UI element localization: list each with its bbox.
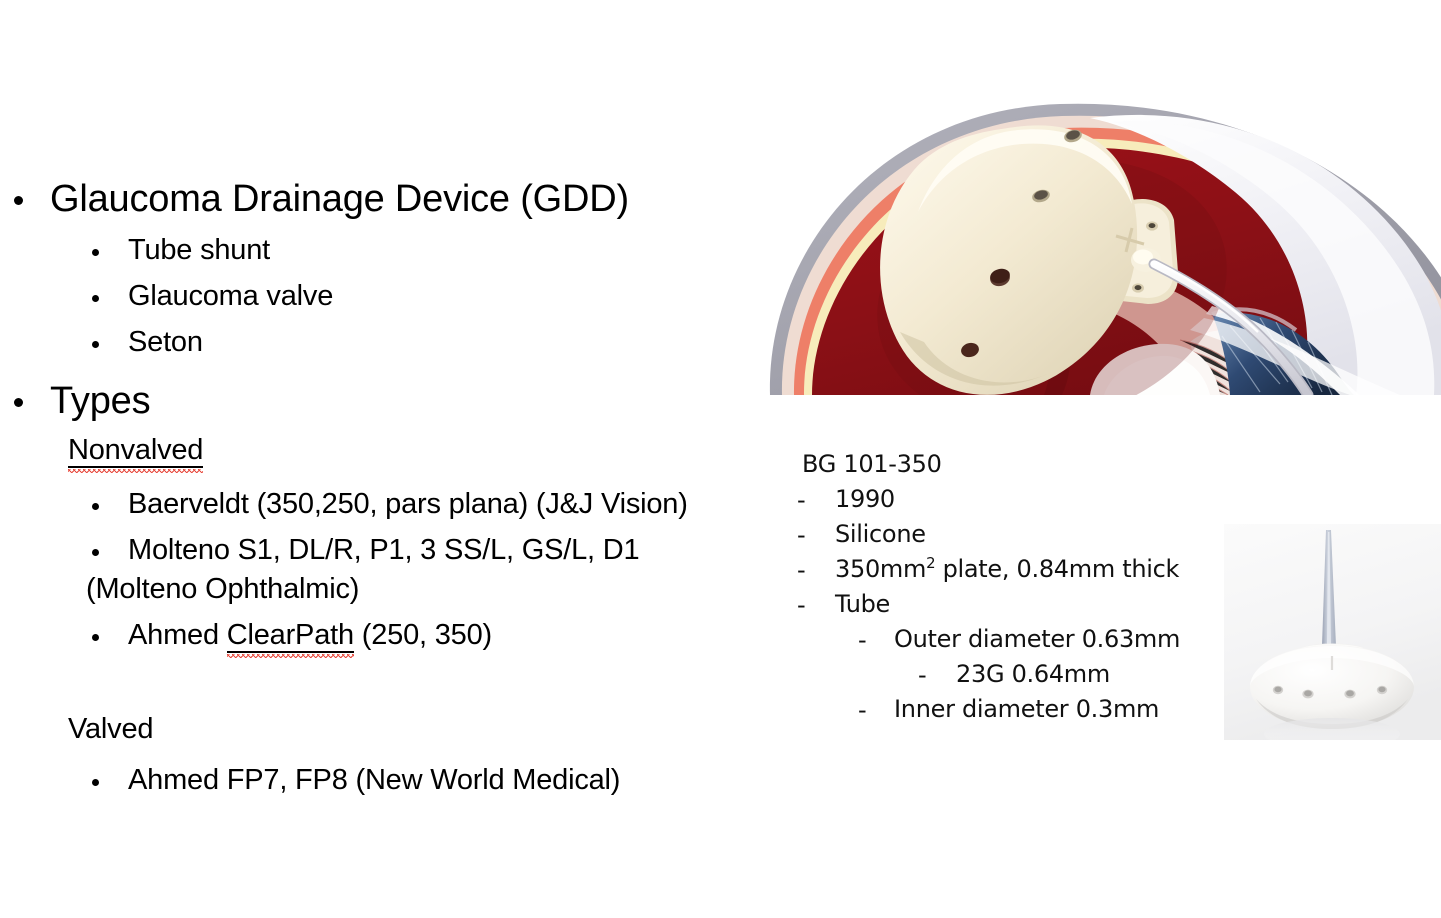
- bullet-item-ahmed-fp: Ahmed FP7, FP8 (New World Medical): [0, 766, 740, 795]
- nonvalved-heading: Nonvalved: [68, 436, 740, 468]
- slide-canvas: Glaucoma Drainage Device (GDD) Tube shun…: [0, 0, 1441, 918]
- molteno-continuation-line: (Molteno Ophthalmic): [86, 575, 740, 604]
- spec-row-year: - 1990: [796, 487, 1226, 522]
- baerveldt-implant-photo: [1224, 524, 1441, 740]
- bullet-label: Tube shunt: [128, 236, 740, 265]
- ahmed-suffix: (250, 350): [354, 619, 492, 651]
- spec-row-gauge: - 23G 0.64mm: [796, 662, 1226, 697]
- bullet-label: Types: [50, 382, 740, 420]
- spec-value: 1990: [835, 487, 895, 511]
- spec-row-material: - Silicone: [796, 522, 1226, 557]
- bullet-dot-icon: [92, 249, 99, 256]
- dash-marker-icon: -: [858, 698, 866, 722]
- bullet-item-baerveldt: Baerveldt (350,250, pars plana) (J&J Vis…: [0, 490, 740, 519]
- spec-row-tube: - Tube: [796, 592, 1226, 627]
- ahmed-prefix: Ahmed: [128, 619, 227, 651]
- bullet-dot-icon: [14, 398, 23, 407]
- dash-marker-icon: -: [797, 593, 805, 617]
- spec-value: Silicone: [835, 522, 926, 546]
- bullet-label: Glaucoma Drainage Device (GDD): [50, 180, 740, 218]
- valved-heading-text: Valved: [68, 713, 153, 745]
- dash-marker-icon: -: [797, 523, 805, 547]
- bullet-item-ahmed-clearpath: Ahmed ClearPath (250, 350): [0, 621, 740, 653]
- bullet-item-gdd: Glaucoma Drainage Device (GDD): [0, 180, 740, 218]
- spec-title-row: BG 101-350: [796, 452, 1226, 487]
- plate-area-value: 350mm: [835, 555, 926, 583]
- eye-cross-section-illustration: [760, 92, 1441, 395]
- eye-illustration-svg: [760, 92, 1441, 395]
- plate-thickness-value: plate, 0.84mm thick: [935, 555, 1179, 583]
- plate-area-exponent: 2: [926, 554, 935, 572]
- bullet-dot-icon: [92, 634, 99, 641]
- bullet-dot-icon: [92, 779, 99, 786]
- bullet-label: Glaucoma valve: [128, 282, 740, 311]
- valved-heading: Valved: [68, 715, 740, 744]
- bullet-item-glaucoma-valve: Glaucoma valve: [0, 282, 740, 311]
- spec-value: 23G 0.64mm: [956, 662, 1110, 686]
- clearpath-term: ClearPath: [227, 621, 354, 653]
- molteno-continuation-text: (Molteno Ophthalmic): [86, 573, 359, 605]
- bullet-dot-icon: [92, 503, 99, 510]
- dash-marker-icon: -: [797, 558, 805, 582]
- bullet-item-types: Types: [0, 382, 740, 420]
- bullet-item-seton: Seton: [0, 328, 740, 357]
- bullet-dot-icon: [14, 196, 23, 205]
- spec-value: 350mm2 plate, 0.84mm thick: [835, 557, 1179, 581]
- spec-title: BG 101-350: [796, 450, 942, 478]
- bullet-label: Ahmed ClearPath (250, 350): [128, 621, 740, 653]
- bullet-dot-icon: [92, 341, 99, 348]
- left-content-column: Glaucoma Drainage Device (GDD) Tube shun…: [0, 180, 740, 795]
- dash-marker-icon: -: [918, 663, 926, 687]
- bullet-item-tube-shunt: Tube shunt: [0, 236, 740, 265]
- bullet-dot-icon: [92, 295, 99, 302]
- bullet-item-molteno: Molteno S1, DL/R, P1, 3 SS/L, GS/L, D1: [0, 536, 740, 565]
- bullet-label: Molteno S1, DL/R, P1, 3 SS/L, GS/L, D1: [128, 536, 740, 565]
- bullet-dot-icon: [92, 549, 99, 556]
- spec-row-outer-diameter: - Outer diameter 0.63mm: [796, 627, 1226, 662]
- spec-row-inner-diameter: - Inner diameter 0.3mm: [796, 697, 1226, 732]
- dash-marker-icon: -: [858, 628, 866, 652]
- device-spec-block: BG 101-350 - 1990 - Silicone - 350mm2 pl…: [796, 452, 1226, 732]
- spec-value: Tube: [835, 592, 890, 616]
- bullet-label: Baerveldt (350,250, pars plana) (J&J Vis…: [128, 490, 740, 519]
- spec-row-plate: - 350mm2 plate, 0.84mm thick: [796, 557, 1226, 592]
- bullet-label: Ahmed FP7, FP8 (New World Medical): [128, 766, 740, 795]
- dash-marker-icon: -: [797, 488, 805, 512]
- implant-photo-svg: [1224, 524, 1441, 740]
- nonvalved-heading-text: Nonvalved: [68, 436, 203, 468]
- bullet-label: Seton: [128, 328, 740, 357]
- spec-value: Outer diameter 0.63mm: [894, 627, 1180, 651]
- spec-value: Inner diameter 0.3mm: [894, 697, 1159, 721]
